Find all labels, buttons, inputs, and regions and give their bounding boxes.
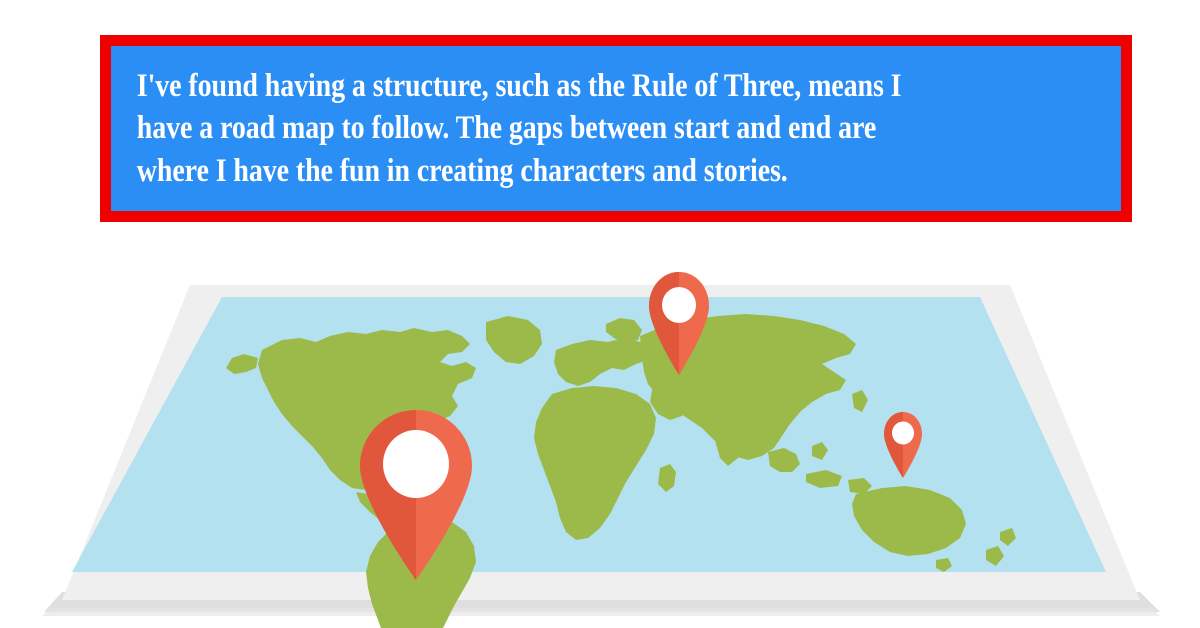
quote-callout-box: I've found having a structure, such as t… <box>100 35 1132 222</box>
quote-card-canvas: I've found having a structure, such as t… <box>0 0 1200 628</box>
world-map-illustration <box>0 240 1200 628</box>
world-map-svg <box>0 240 1200 628</box>
quote-text: I've found having a structure, such as t… <box>111 65 980 192</box>
pin-europe-hole <box>662 287 696 323</box>
pin-australia-hole <box>892 422 914 445</box>
pin-north-america-hole <box>383 430 449 498</box>
